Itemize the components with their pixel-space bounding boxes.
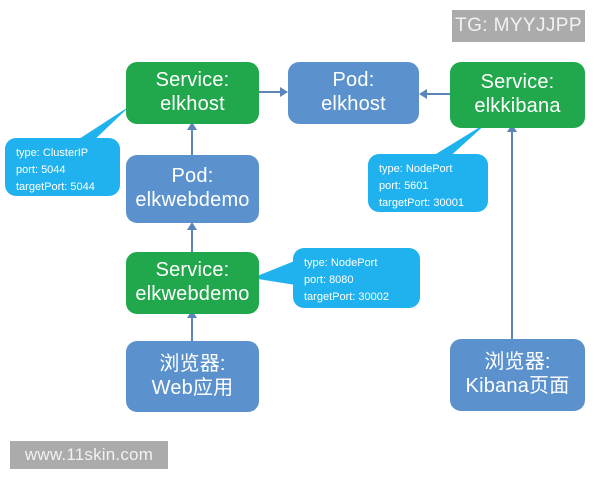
- callout-elkhost-port: port: 5044: [16, 162, 111, 179]
- node-service-elkwebdemo-line2: elkwebdemo: [135, 283, 249, 307]
- node-service-elkhost-line2: elkhost: [160, 93, 225, 117]
- tg-watermark-text: TG: MYYJJPP: [455, 15, 582, 37]
- node-browser-web-line1: 浏览器:: [159, 353, 225, 377]
- callout-elkhost-targetport: targetPort: 5044: [16, 179, 111, 196]
- node-pod-elkwebdemo-line2: elkwebdemo: [135, 189, 249, 213]
- callout-elkwebdemo-type: type: NodePort: [304, 255, 411, 272]
- diagram-canvas: Service: elkhost Pod: elkhost Service: e…: [0, 0, 600, 480]
- callout-elkhost-type: type: ClusterIP: [16, 145, 111, 162]
- arrowhead-to-pod-elkhost-left: [419, 89, 427, 99]
- node-browser-web[interactable]: 浏览器: Web应用: [126, 341, 259, 412]
- node-pod-elkwebdemo[interactable]: Pod: elkwebdemo: [126, 155, 259, 223]
- callout-elkkibana-targetport: targetPort: 30001: [379, 195, 479, 212]
- node-pod-elkwebdemo-line1: Pod:: [172, 165, 214, 189]
- node-service-elkkibana[interactable]: Service: elkkibana: [450, 62, 585, 128]
- callout-elkwebdemo-port: port: 8080: [304, 272, 411, 289]
- node-browser-kibana[interactable]: 浏览器: Kibana页面: [450, 339, 585, 411]
- connector-svc-elkhost-to-pod-elkhost: [259, 91, 281, 93]
- site-watermark-text: www.11skin.com: [25, 445, 153, 465]
- node-pod-elkhost[interactable]: Pod: elkhost: [288, 62, 419, 124]
- callout-elkkibana-type: type: NodePort: [379, 161, 479, 178]
- callout-elkkibana-port: port: 5601: [379, 178, 479, 195]
- callout-service-elkhost[interactable]: type: ClusterIP port: 5044 targetPort: 5…: [5, 138, 120, 196]
- connector-browser-web-to-svc-elkwebdemo: [191, 314, 193, 342]
- arrowhead-to-pod-elkwebdemo: [187, 222, 197, 230]
- connector-pod-elkwebdemo-to-svc-elkhost: [191, 126, 193, 156]
- node-pod-elkhost-line1: Pod:: [333, 69, 375, 93]
- callout-service-elkkibana[interactable]: type: NodePort port: 5601 targetPort: 30…: [368, 154, 488, 212]
- tg-watermark-badge: TG: MYYJJPP: [452, 10, 585, 42]
- node-service-elkkibana-line1: Service:: [481, 71, 555, 95]
- node-service-elkhost[interactable]: Service: elkhost: [126, 62, 259, 124]
- arrowhead-to-pod-elkhost: [280, 87, 288, 97]
- node-service-elkhost-line1: Service:: [156, 69, 230, 93]
- node-service-elkwebdemo-line1: Service:: [156, 259, 230, 283]
- node-browser-kibana-line1: 浏览器:: [484, 351, 550, 375]
- node-service-elkkibana-line2: elkkibana: [474, 95, 560, 119]
- site-watermark-badge: www.11skin.com: [10, 441, 168, 469]
- node-pod-elkhost-line2: elkhost: [321, 93, 386, 117]
- node-browser-kibana-line2: Kibana页面: [466, 375, 570, 399]
- callout-elkwebdemo-targetport: targetPort: 30002: [304, 289, 411, 306]
- connector-browser-kibana-to-svc-elkkibana: [511, 128, 513, 340]
- callout-service-elkwebdemo[interactable]: type: NodePort port: 8080 targetPort: 30…: [293, 248, 420, 308]
- connector-svc-elkkibana-to-pod-elkhost: [427, 93, 451, 95]
- node-browser-web-line2: Web应用: [152, 377, 234, 401]
- node-service-elkwebdemo[interactable]: Service: elkwebdemo: [126, 252, 259, 314]
